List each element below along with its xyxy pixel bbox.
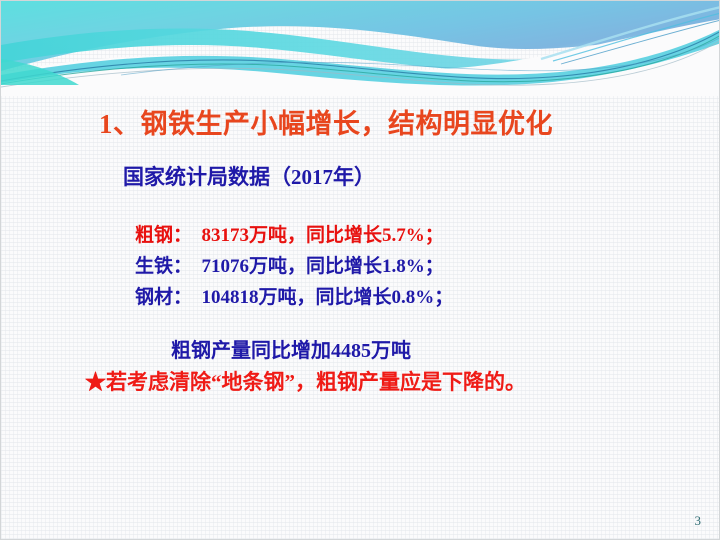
stat-line-pig-iron: 生铁： 71076万吨，同比增长1.8%； xyxy=(135,251,444,278)
stat-line-crude-steel: 粗钢： 83173万吨，同比增长5.7%； xyxy=(135,220,444,247)
note-line: ★若考虑清除“地条钢”，粗钢产量应是下降的。 xyxy=(85,366,526,396)
slide-content: 1、钢铁生产小幅增长，结构明显优化 国家统计局数据（2017年） 粗钢： 831… xyxy=(1,1,719,539)
data-source-label: 国家统计局数据（2017年） xyxy=(123,161,375,191)
slide-title: 1、钢铁生产小幅增长，结构明显优化 xyxy=(99,102,553,141)
summary-line: 粗钢产量同比增加4485万吨 xyxy=(171,334,411,363)
page-number: 3 xyxy=(695,513,702,529)
slide-canvas: 1、钢铁生产小幅增长，结构明显优化 国家统计局数据（2017年） 粗钢： 831… xyxy=(0,0,720,540)
stat-line-steel-products: 钢材： 104818万吨，同比增长0.8%； xyxy=(135,282,453,309)
